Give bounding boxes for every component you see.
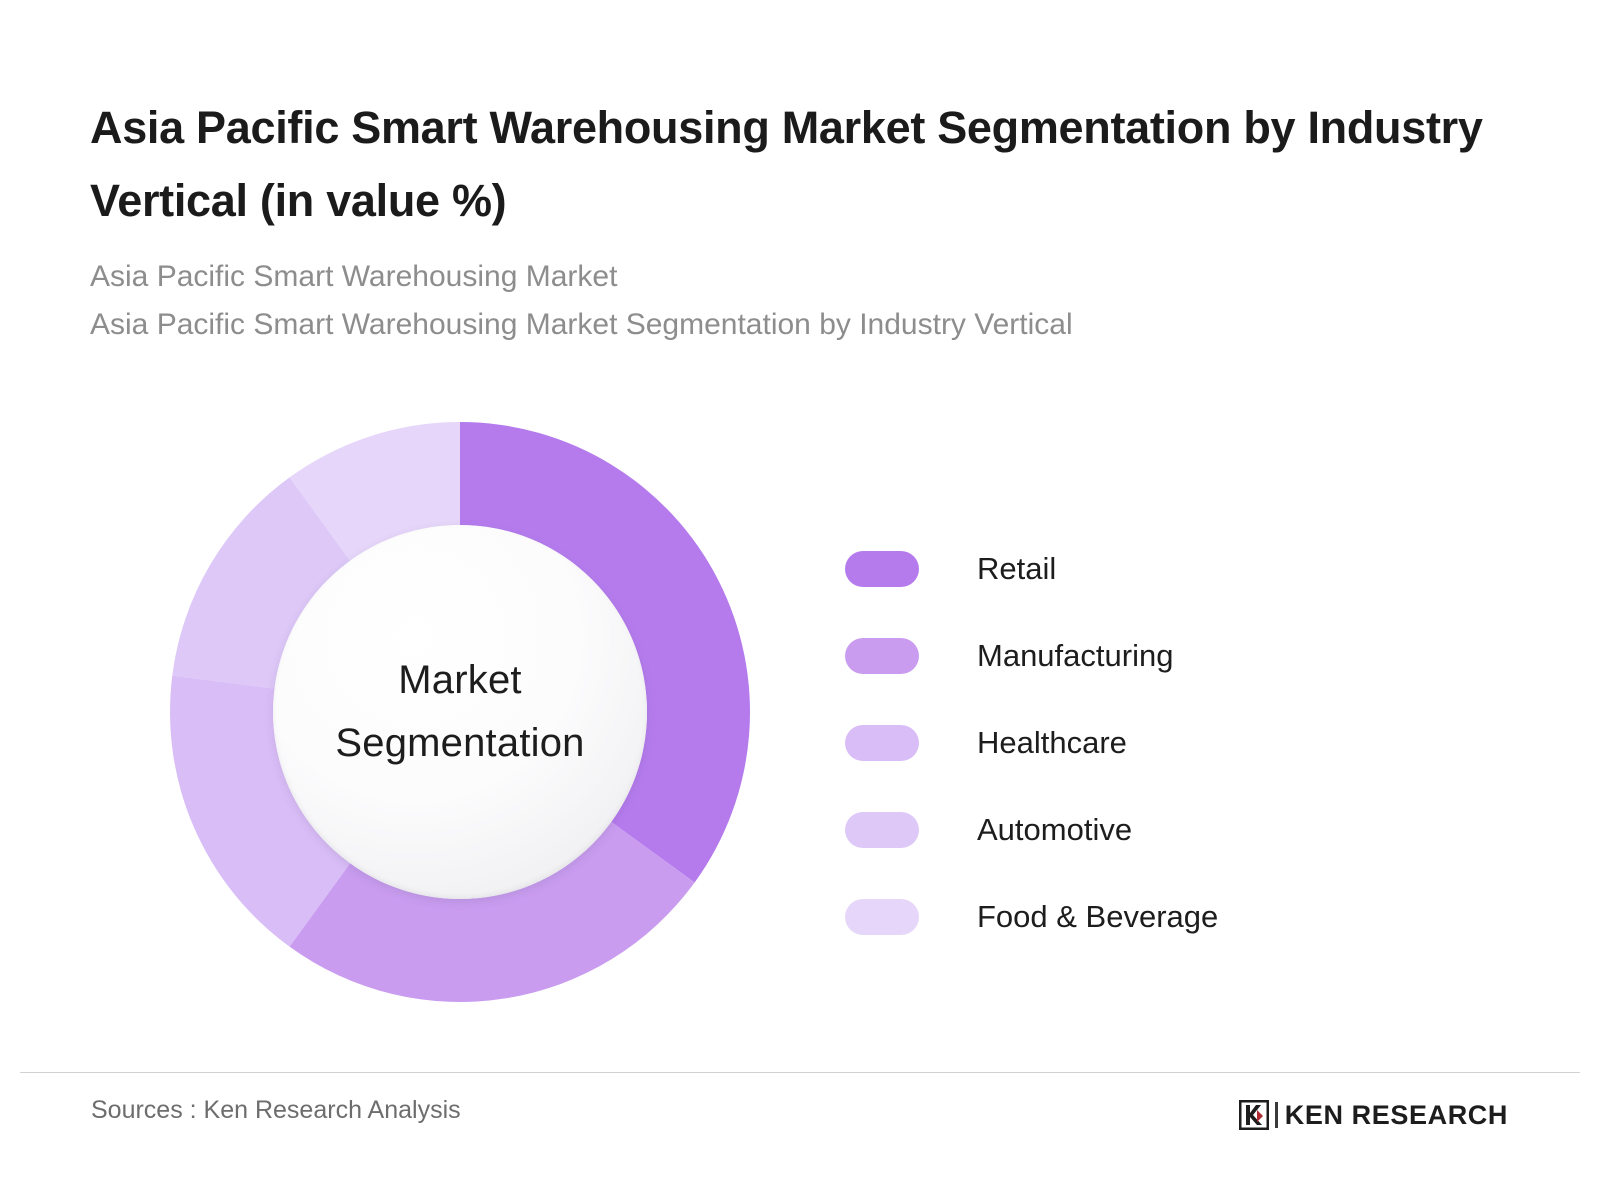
donut-center-line-1: Market (398, 649, 521, 712)
subtitle-line-1: Asia Pacific Smart Warehousing Market (90, 253, 1490, 301)
logo-wordmark: KEN RESEARCH (1285, 1100, 1508, 1131)
legend-swatch (845, 551, 919, 587)
legend-label: Healthcare (977, 725, 1127, 761)
subtitle-line-2: Asia Pacific Smart Warehousing Market Se… (90, 301, 1490, 349)
logo-k-icon (1239, 1100, 1269, 1130)
legend-swatch (845, 725, 919, 761)
ken-research-logo: KEN RESEARCH (1239, 1098, 1508, 1132)
legend-item[interactable]: Food & Beverage (845, 873, 1445, 960)
subtitle-block: Asia Pacific Smart Warehousing Market As… (90, 253, 1490, 349)
legend-item[interactable]: Retail (845, 525, 1445, 612)
donut-center-line-2: Segmentation (335, 712, 584, 775)
page-title: Asia Pacific Smart Warehousing Market Se… (90, 92, 1510, 238)
chart-legend: RetailManufacturingHealthcareAutomotiveF… (845, 525, 1445, 960)
donut-center-hub: Market Segmentation (273, 525, 647, 899)
chart-area: Market Segmentation RetailManufacturingH… (0, 400, 1600, 1060)
legend-label: Retail (977, 551, 1056, 587)
footer-divider (20, 1072, 1580, 1073)
legend-label: Automotive (977, 812, 1132, 848)
legend-item[interactable]: Healthcare (845, 699, 1445, 786)
legend-label: Manufacturing (977, 638, 1173, 674)
logo-k-glyph (1239, 1100, 1269, 1130)
legend-item[interactable]: Automotive (845, 786, 1445, 873)
slide-canvas: Asia Pacific Smart Warehousing Market Se… (0, 0, 1600, 1200)
sources-text: Sources : Ken Research Analysis (91, 1096, 461, 1125)
logo-divider (1275, 1102, 1278, 1128)
legend-label: Food & Beverage (977, 899, 1218, 935)
donut-chart: Market Segmentation (170, 422, 750, 1002)
legend-swatch (845, 899, 919, 935)
legend-swatch (845, 812, 919, 848)
legend-item[interactable]: Manufacturing (845, 612, 1445, 699)
legend-swatch (845, 638, 919, 674)
